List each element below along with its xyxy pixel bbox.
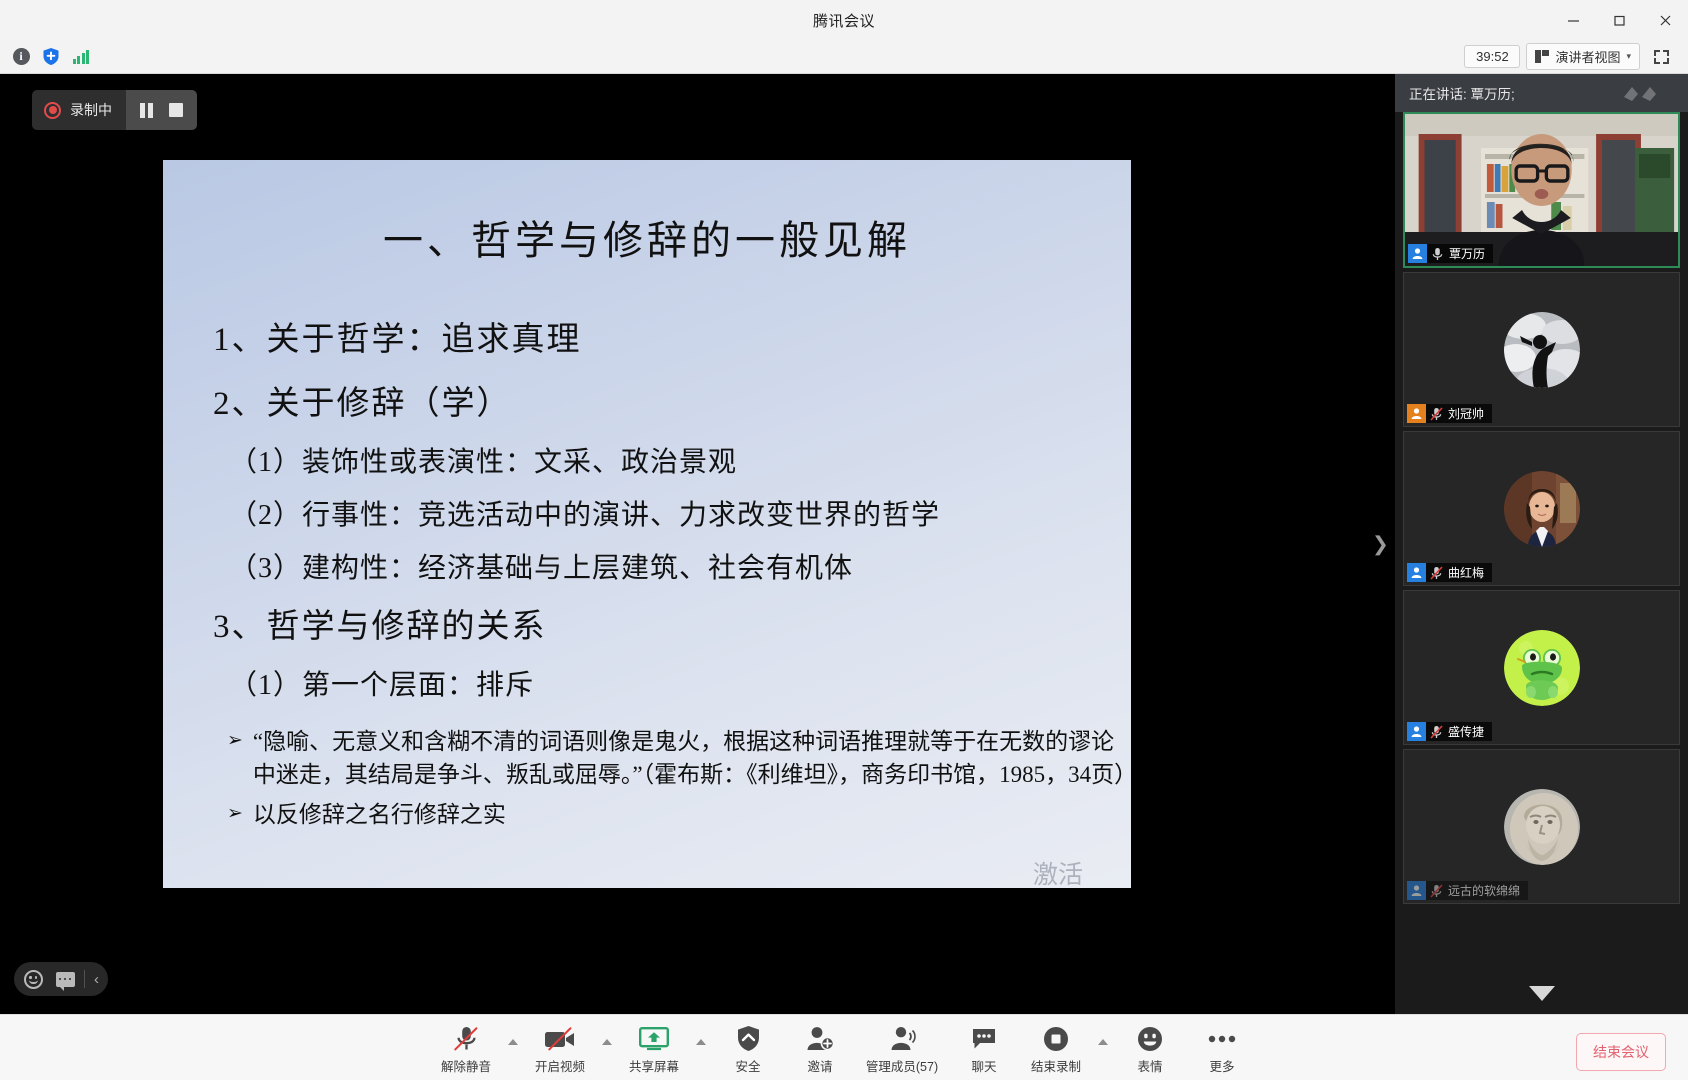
participant-name-chip: 刘冠帅 xyxy=(1426,404,1492,423)
toolbar-unmute-button[interactable]: 解除静音 xyxy=(430,1021,502,1075)
toolbar-label: 邀请 xyxy=(807,1056,832,1075)
participant-tiles-list: 覃万历 xyxy=(1395,112,1688,974)
caret-up-icon xyxy=(602,1039,612,1045)
participant-badge: 刘冠帅 xyxy=(1407,404,1492,423)
watermark-line-1: 激活 Windows xyxy=(1033,860,1131,888)
expand-panel-chevron-icon[interactable]: ❯ xyxy=(1372,532,1388,557)
invite-user-icon xyxy=(806,1025,834,1053)
person-icon xyxy=(1407,722,1426,741)
recording-label: 录制中 xyxy=(70,100,112,120)
toolbar-invite-button[interactable]: 邀请 xyxy=(784,1021,856,1075)
shared-screen-stage: 录制中 一、哲学与修辞的一般见解 1、关于哲学：追求真理 2、关于修辞（学） （… xyxy=(0,74,1395,1014)
participant-name: 盛传捷 xyxy=(1448,723,1484,740)
bullet-arrow-icon: ➢ xyxy=(227,799,243,832)
slide-line: 3、哲学与修辞的关系 xyxy=(213,599,1131,647)
bullet-text: 以反修辞之名行修辞之实 xyxy=(253,799,1131,832)
scroll-down-button[interactable] xyxy=(1395,986,1688,1006)
smiley-icon[interactable] xyxy=(20,966,46,992)
toolbar-chat-button[interactable]: 聊天 xyxy=(948,1021,1020,1075)
meeting-controls-right: 39:52 演讲者视图 ▾ xyxy=(1464,43,1688,70)
divider xyxy=(84,970,85,988)
person-icon xyxy=(1407,404,1426,423)
meeting-timer: 39:52 xyxy=(1464,45,1520,68)
slide-line: 2、关于修辞（学） xyxy=(213,376,1131,424)
shield-plus-icon[interactable] xyxy=(40,46,62,68)
avatar xyxy=(1504,789,1580,865)
caret-up-icon xyxy=(508,1039,518,1045)
toolbar-label: 结束录制 xyxy=(1031,1056,1081,1075)
mic-on-icon xyxy=(1431,247,1444,261)
share-screen-icon xyxy=(639,1025,669,1053)
mic-options-button[interactable] xyxy=(502,1021,524,1045)
participant-name-chip: 盛传捷 xyxy=(1426,722,1492,741)
meeting-toolbar: 解除静音 开启视频 共享屏幕 安全 xyxy=(0,1014,1688,1080)
recording-indicator: 录制中 xyxy=(32,90,197,130)
toolbar-manage-members-button[interactable]: 管理成员(57) xyxy=(856,1021,948,1075)
toolbar-share-screen-button[interactable]: 共享屏幕 xyxy=(618,1021,690,1075)
toolbar-label: 解除静音 xyxy=(441,1056,491,1075)
more-dots-icon xyxy=(1208,1025,1236,1053)
manage-members-icon xyxy=(888,1025,916,1053)
chat-icon xyxy=(971,1025,997,1053)
participant-tile[interactable]: 远古的软绵绵 xyxy=(1403,749,1680,904)
participant-badge: 远古的软绵绵 xyxy=(1407,881,1528,900)
participant-badge: 覃万历 xyxy=(1408,244,1493,263)
caret-up-icon xyxy=(696,1039,706,1045)
window-title-bar: 腾讯会议 xyxy=(0,0,1688,40)
toolbar-label: 开启视频 xyxy=(535,1056,585,1075)
participant-badge: 盛传捷 xyxy=(1407,722,1492,741)
person-icon xyxy=(1408,244,1427,263)
minimize-button[interactable] xyxy=(1550,0,1596,40)
view-mode-selector[interactable]: 演讲者视图 ▾ xyxy=(1526,43,1640,70)
toolbar-more-button[interactable]: 更多 xyxy=(1186,1021,1258,1075)
slide-bullet: ➢ “隐喻、无意义和含糊不清的词语则像是鬼火，根据这种词语推理就等于在无数的谬论… xyxy=(227,726,1131,791)
bullet-arrow-icon: ➢ xyxy=(227,726,243,791)
active-speaker-banner: 正在讲话: 覃万历; xyxy=(1395,74,1688,112)
tencent-meeting-logo xyxy=(1620,83,1666,103)
toolbar-start-video-button[interactable]: 开启视频 xyxy=(524,1021,596,1075)
slide-bullet: ➢ 以反修辞之名行修辞之实 xyxy=(227,799,1131,832)
bullet-text: “隐喻、无意义和含糊不清的词语则像是鬼火，根据这种词语推理就等于在无数的谬论中迷… xyxy=(253,726,1131,791)
maximize-button[interactable] xyxy=(1596,0,1642,40)
recording-controls xyxy=(126,90,197,130)
info-icon[interactable]: i xyxy=(10,46,32,68)
participant-name-chip: 远古的软绵绵 xyxy=(1426,881,1528,900)
fullscreen-button[interactable] xyxy=(1646,44,1676,70)
mic-muted-icon xyxy=(1430,884,1443,898)
active-speaker-label: 正在讲话: 覃万历; xyxy=(1409,83,1515,103)
recording-options-button[interactable] xyxy=(1092,1021,1114,1045)
slide-title: 一、哲学与修辞的一般见解 xyxy=(163,208,1131,266)
view-mode-label: 演讲者视图 xyxy=(1555,47,1620,66)
chevron-down-icon: ▾ xyxy=(1626,51,1631,62)
participant-name: 刘冠帅 xyxy=(1448,405,1484,422)
slide-line: 1、关于哲学：追求真理 xyxy=(213,312,1131,360)
mic-muted-icon xyxy=(1430,407,1443,421)
participant-name: 曲红梅 xyxy=(1448,564,1484,581)
mic-muted-icon xyxy=(1430,725,1443,739)
avatar xyxy=(1504,630,1580,706)
recording-status: 录制中 xyxy=(32,90,126,130)
participant-tile[interactable]: 盛传捷 xyxy=(1403,590,1680,745)
slide-line: （1）第一个层面：排斥 xyxy=(229,663,1131,703)
slide-line: （2）行事性：竞选活动中的演讲、力求改变世界的哲学 xyxy=(229,493,1131,533)
close-button[interactable] xyxy=(1642,0,1688,40)
stop-recording-button[interactable] xyxy=(169,103,183,117)
layout-icon xyxy=(1535,50,1549,63)
toolbar-items: 解除静音 开启视频 共享屏幕 安全 xyxy=(430,1021,1258,1075)
participant-tile[interactable]: 曲红梅 xyxy=(1403,431,1680,586)
avatar xyxy=(1504,312,1580,388)
person-icon xyxy=(1407,881,1426,900)
participant-name: 远古的软绵绵 xyxy=(1448,882,1520,899)
chat-bubble-icon[interactable] xyxy=(52,966,78,992)
info-glyph: i xyxy=(13,48,30,65)
slide-body: 1、关于哲学：追求真理 2、关于修辞（学） （1）装饰性或表演性：文采、政治景观… xyxy=(163,312,1131,832)
signal-bars-icon[interactable] xyxy=(70,46,92,68)
window-controls xyxy=(1550,0,1688,40)
page-title: 腾讯会议 xyxy=(813,10,875,31)
toolbar-label: 表情 xyxy=(1137,1056,1162,1075)
participant-badge: 曲红梅 xyxy=(1407,563,1492,582)
pause-recording-button[interactable] xyxy=(140,103,153,118)
slide-line: （1）装饰性或表演性：文采、政治景观 xyxy=(229,440,1131,480)
participant-tile-speaker[interactable]: 覃万历 xyxy=(1403,112,1680,268)
shield-icon xyxy=(736,1025,761,1053)
caret-up-icon xyxy=(1098,1039,1108,1045)
participants-panel: 正在讲话: 覃万历; xyxy=(1395,74,1688,1014)
camera-muted-icon xyxy=(544,1025,576,1053)
person-icon xyxy=(1407,563,1426,582)
toolbar-label: 管理成员(57) xyxy=(866,1056,938,1075)
toolbar-label: 安全 xyxy=(735,1056,760,1075)
avatar xyxy=(1504,471,1580,547)
windows-activation-watermark: 激活 Windows 转到"设置"以激活 Windows。 xyxy=(1033,860,1131,888)
toolbar-security-button[interactable]: 安全 xyxy=(712,1021,784,1075)
toolbar-emoji-button[interactable]: 表情 xyxy=(1114,1021,1186,1075)
toolbar-label: 聊天 xyxy=(971,1056,996,1075)
emoji-icon xyxy=(1137,1025,1163,1053)
participant-tile[interactable]: 刘冠帅 xyxy=(1403,272,1680,427)
chevron-left-icon[interactable]: ‹ xyxy=(91,971,102,988)
share-options-button[interactable] xyxy=(690,1021,712,1045)
status-icons-group: i xyxy=(0,46,92,68)
toolbar-label: 共享屏幕 xyxy=(629,1056,679,1075)
mic-muted-icon xyxy=(454,1025,479,1053)
end-meeting-button[interactable]: 结束会议 xyxy=(1576,1033,1666,1071)
triangle-down-icon xyxy=(1529,986,1555,1001)
meeting-status-bar: i 39:52 演讲者视图 ▾ xyxy=(0,40,1688,74)
slide-line: （3）建构性：经济基础与上层建筑、社会有机体 xyxy=(229,546,1131,586)
camera-options-button[interactable] xyxy=(596,1021,618,1045)
mic-muted-icon xyxy=(1430,566,1443,580)
participant-name-chip: 覃万历 xyxy=(1427,244,1493,263)
presentation-slide: 一、哲学与修辞的一般见解 1、关于哲学：追求真理 2、关于修辞（学） （1）装饰… xyxy=(163,160,1131,888)
participant-name-chip: 曲红梅 xyxy=(1426,563,1492,582)
floating-reaction-bar: ‹ xyxy=(14,962,108,996)
stop-record-icon xyxy=(1043,1025,1069,1053)
fullscreen-icon xyxy=(1654,50,1669,64)
toolbar-label: 更多 xyxy=(1209,1056,1234,1075)
record-dot-icon xyxy=(44,102,61,119)
participant-name: 覃万历 xyxy=(1449,245,1485,262)
toolbar-stop-recording-button[interactable]: 结束录制 xyxy=(1020,1021,1092,1075)
